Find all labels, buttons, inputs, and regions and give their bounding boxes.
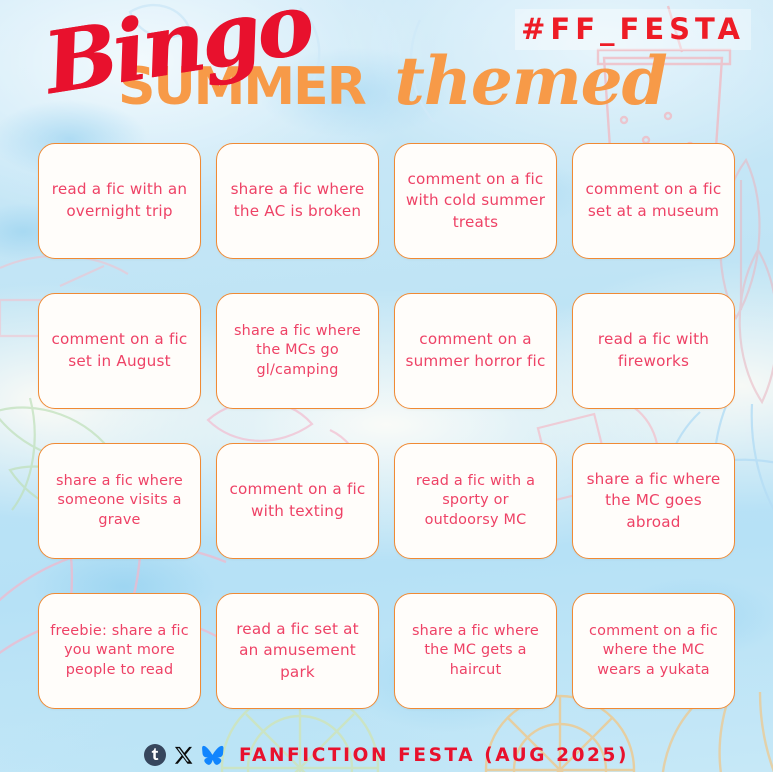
- bingo-cell[interactable]: read a fic with an overnight trip: [38, 143, 201, 259]
- title-word-themed: themed: [394, 42, 666, 120]
- bingo-cell-text: read a fic with an overnight trip: [48, 179, 191, 222]
- bluesky-butterfly-icon-svg: [201, 745, 224, 766]
- bingo-cell[interactable]: share a fic where the AC is broken: [216, 143, 379, 259]
- bingo-cell-text: comment on a fic with texting: [226, 479, 369, 522]
- bingo-cell[interactable]: comment on a fic with cold summer treats: [394, 143, 557, 259]
- bingo-cell[interactable]: comment on a fic where the MC wears a yu…: [572, 593, 735, 709]
- tumblr-icon-svg: [144, 744, 166, 766]
- bingo-cell[interactable]: share a fic where the MC gets a haircut: [394, 593, 557, 709]
- bingo-cell[interactable]: comment on a fic set at a museum: [572, 143, 735, 259]
- bingo-poster: #FF_FESTA Bingo summer themed read a fic…: [0, 0, 773, 772]
- bingo-cell[interactable]: share a fic where the MC goes abroad: [572, 443, 735, 559]
- bingo-cell-text: comment on a fic where the MC wears a yu…: [582, 622, 725, 679]
- bingo-cell-text: comment on a summer horror fic: [404, 329, 547, 372]
- bingo-cell-text: read a fic with a sporty or outdoorsy MC: [404, 472, 547, 529]
- bingo-cell-text: share a fic where the AC is broken: [226, 179, 369, 222]
- bingo-cell[interactable]: comment on a fic set in August: [38, 293, 201, 409]
- x-twitter-icon-svg: [173, 745, 194, 766]
- bingo-grid: read a fic with an overnight trip share …: [38, 143, 735, 709]
- bingo-cell-text: comment on a fic with cold summer treats: [404, 169, 547, 234]
- bingo-cell-text: share a fic where the MC gets a haircut: [404, 622, 547, 679]
- tumblr-icon[interactable]: [144, 744, 166, 766]
- bingo-cell-text: read a fic with fireworks: [582, 329, 725, 372]
- bingo-cell-text: share a fic where the MCs go gl/camping: [226, 322, 369, 379]
- bingo-cell[interactable]: read a fic set at an amusement park: [216, 593, 379, 709]
- footer-credits: FANFICTION FESTA (AUG 2025): [0, 744, 773, 766]
- bingo-cell-text: share a fic where someone visits a grave: [48, 472, 191, 529]
- bluesky-butterfly-icon[interactable]: [201, 745, 224, 766]
- bingo-cell[interactable]: comment on a fic with texting: [216, 443, 379, 559]
- bingo-cell-text: share a fic where the MC goes abroad: [582, 469, 725, 534]
- bingo-cell[interactable]: read a fic with fireworks: [572, 293, 735, 409]
- bingo-cell[interactable]: read a fic with a sporty or outdoorsy MC: [394, 443, 557, 559]
- footer-credit-text: FANFICTION FESTA (AUG 2025): [239, 745, 629, 766]
- bingo-cell-text: freebie: share a fic you want more peopl…: [48, 622, 191, 679]
- bingo-cell-text: read a fic set at an amusement park: [226, 619, 369, 684]
- bingo-cell[interactable]: share a fic where someone visits a grave: [38, 443, 201, 559]
- bingo-cell[interactable]: share a fic where the MCs go gl/camping: [216, 293, 379, 409]
- bingo-cell-text: comment on a fic set in August: [48, 329, 191, 372]
- bingo-cell-text: comment on a fic set at a museum: [582, 179, 725, 222]
- bingo-cell[interactable]: freebie: share a fic you want more peopl…: [38, 593, 201, 709]
- bingo-cell[interactable]: comment on a summer horror fic: [394, 293, 557, 409]
- x-twitter-icon[interactable]: [173, 745, 194, 766]
